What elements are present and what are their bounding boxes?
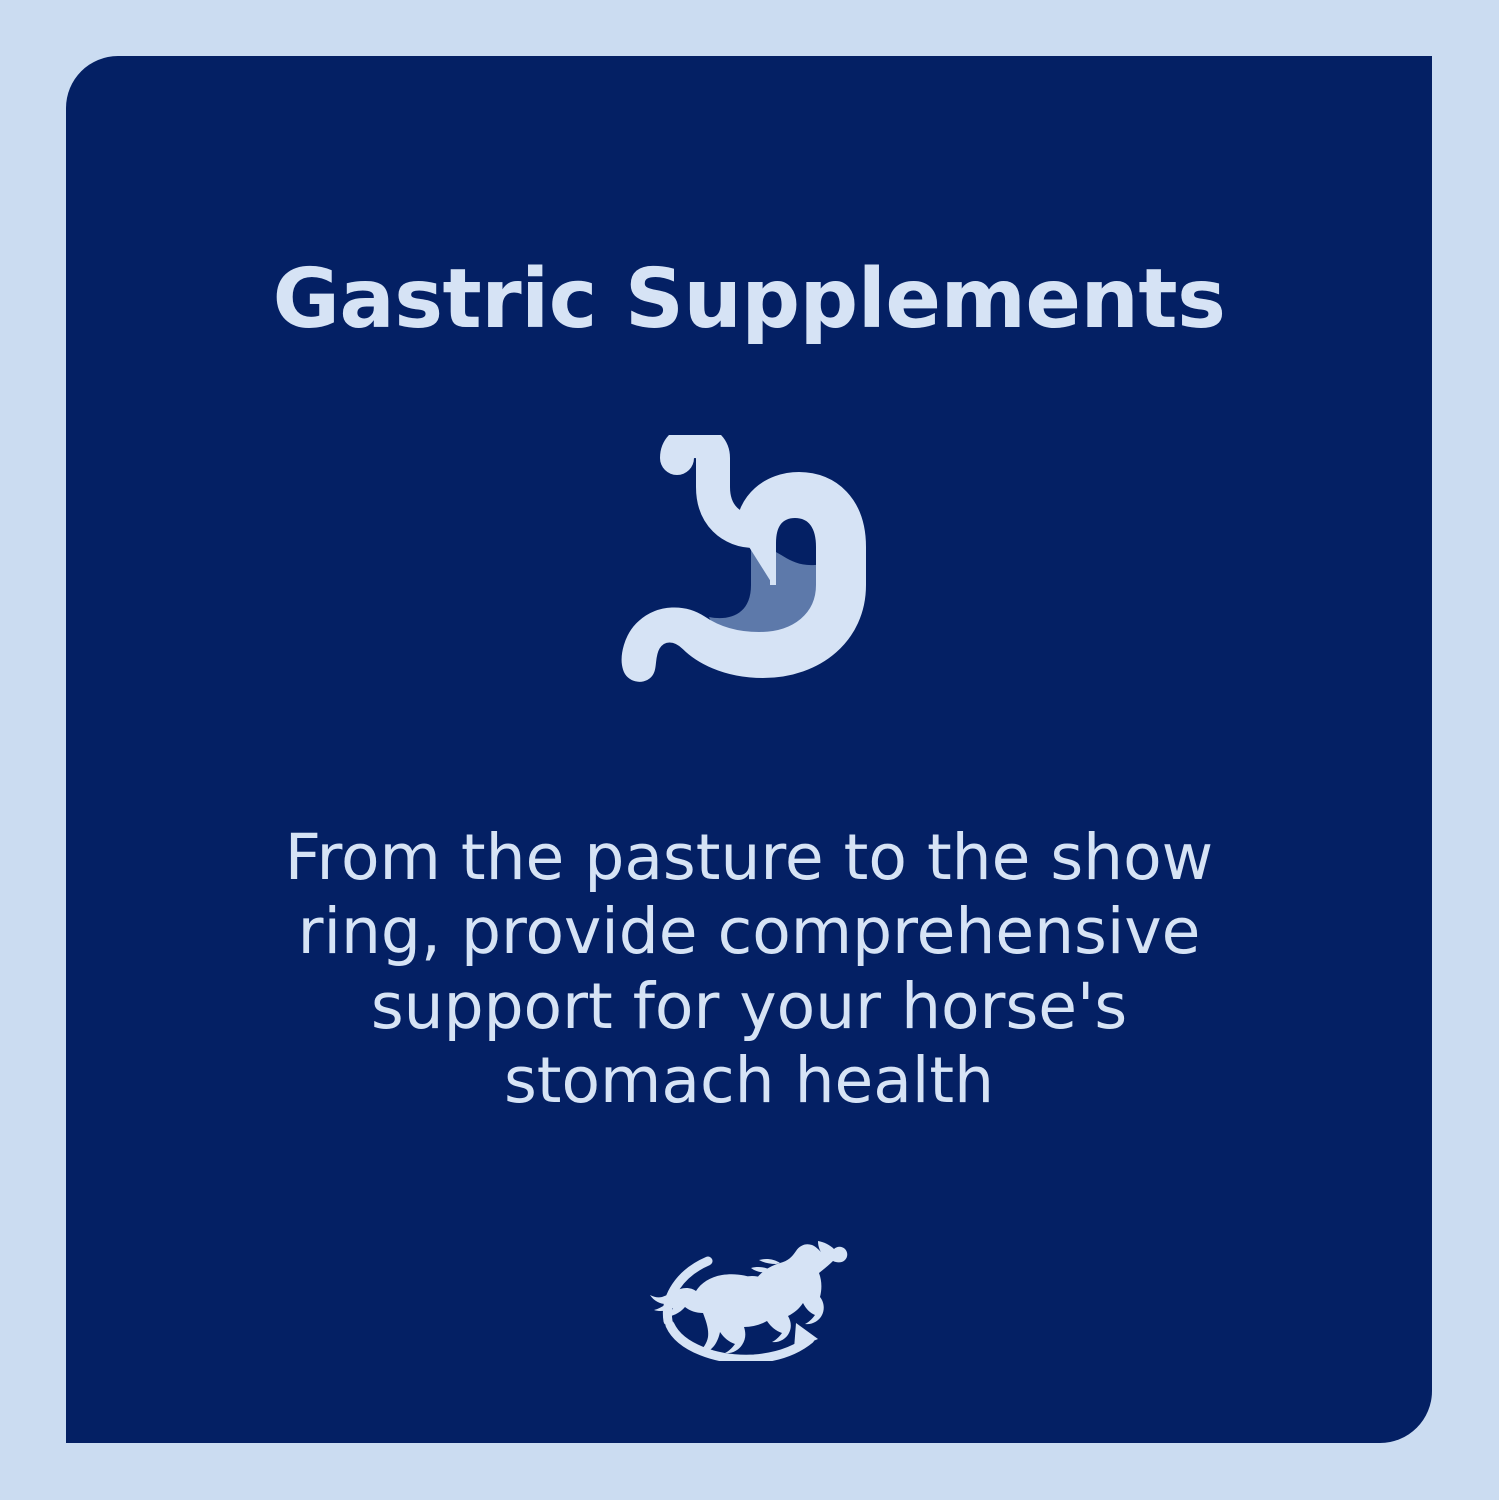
brand-logo-container	[66, 1239, 1432, 1361]
stomach-icon-container	[66, 435, 1432, 687]
description-line: From the pasture to the show	[186, 821, 1312, 895]
description-line: stomach health	[186, 1044, 1312, 1118]
page-title: Gastric Supplements	[66, 259, 1432, 341]
description-line: support for your horse's	[186, 970, 1312, 1044]
page-root: Gastric Supplements From the pasture to …	[0, 0, 1499, 1500]
gastric-supplements-card: Gastric Supplements From the pasture to …	[66, 56, 1432, 1443]
stomach-body-path	[625, 475, 863, 679]
galloping-horse-logo	[646, 1239, 852, 1361]
description-line: ring, provide comprehensive	[186, 895, 1312, 969]
description-text: From the pasture to the show ring, provi…	[186, 821, 1312, 1118]
stomach-icon	[619, 435, 879, 687]
